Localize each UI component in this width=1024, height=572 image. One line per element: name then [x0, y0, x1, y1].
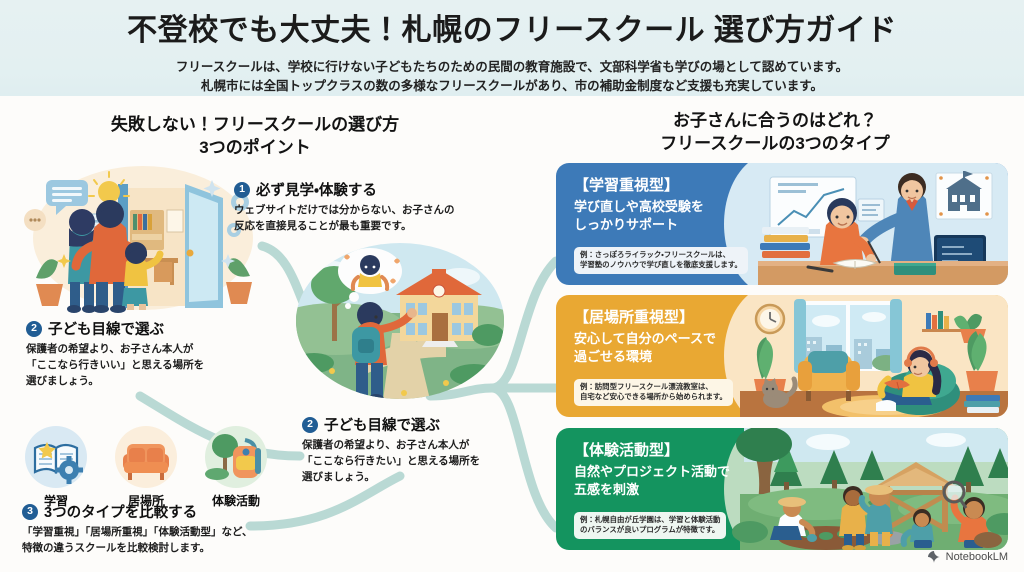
type-icon-cell-place: 居場所	[112, 426, 180, 509]
point-3-number-badge: 3	[22, 504, 38, 520]
type-icon-cell-learning: 学習	[22, 426, 90, 509]
watermark-label: NotebookLM	[946, 551, 1008, 563]
point-2-left-body-line-3: 選びましょう。	[26, 374, 256, 390]
type-card-activity-desc-line-2: 五感を刺激	[574, 481, 824, 499]
type-card-learning-desc-line-1: 学び直しや高校受験を	[574, 198, 824, 216]
type-card-activity-desc: 自然やプロジェクト活動で 五感を刺激	[574, 463, 824, 499]
page-title: 不登校でも大丈夫！札幌のフリースクール 選び方ガイド	[0, 14, 1024, 49]
type-card-place[interactable]: 【居場所重視型】 安心して自分のペースで 過ごせる環境 例：訪問型フリースクール…	[556, 295, 1008, 417]
right-heading-line-2: フリースクールの3つのタイプ	[560, 133, 990, 156]
point-1-title-text: 必ず見学・体験する	[256, 179, 377, 200]
left-heading-line-2: 3つのポイント	[30, 137, 480, 160]
type-card-learning[interactable]: 【学習重視型】 学び直しや高校受験を しっかりサポート 例：さっぽろライラック・…	[556, 163, 1008, 285]
page-subtitle: フリースクールは、学校に行けない子どもたちのための民間の教育施設で、文部科学省も…	[0, 58, 1024, 97]
type-card-learning-note-line-1: 例：さっぽろライラック・フリースクールは、	[580, 250, 742, 261]
point-2-center-title-text: 子ども目線で選ぶ	[324, 414, 440, 435]
subtitle-line-2: 札幌市には全国トップクラスの数の多様なフリースクールがあり、市の補助金制度など支…	[0, 77, 1024, 96]
point-2-left-title: 2 子ども目線で選ぶ	[26, 318, 256, 339]
watermark: NotebookLM	[927, 550, 1008, 564]
point-3-body-line-1: 「学習重視」「居場所重視」「体験活動型」など、	[22, 525, 292, 541]
point-2-center-body-line-3: 選びましょう。	[302, 470, 532, 486]
type-card-activity[interactable]: 【体験活動型】 自然やプロジェクト活動で 五感を刺激 例：札幌自由が丘学園は、学…	[556, 428, 1008, 550]
subtitle-line-1: フリースクールは、学校に行けない子どもたちのための民間の教育施設で、文部科学省も…	[0, 58, 1024, 77]
left-panel-heading: 失敗しない！フリースクールの選び方 3つのポイント	[30, 114, 480, 160]
point-2-center-body-line-2: 「ここなら行きたい」と思える場所を	[302, 454, 532, 470]
point-2-center: 2 子ども目線で選ぶ 保護者の希望より、お子さん本人が 「ここなら行きたい」と思…	[302, 414, 532, 486]
type-card-activity-label: 【体験活動型】	[574, 442, 824, 461]
type-card-place-label: 【居場所重視型】	[574, 309, 824, 328]
point-3-body-line-2: 特徴の違うスクールを比較検討します。	[22, 541, 292, 557]
notebooklm-icon	[927, 550, 941, 564]
type-card-learning-desc: 学び直しや高校受験を しっかりサポート	[574, 198, 824, 234]
point-2-center-number-badge: 2	[302, 417, 318, 433]
point-2-center-body-line-1: 保護者の希望より、お子さん本人が	[302, 438, 532, 454]
tree-and-backpack-icon	[205, 426, 267, 488]
type-card-learning-text: 【学習重視型】 学び直しや高校受験を しっかりサポート	[574, 177, 824, 234]
right-heading-line-1: お子さんに合うのはどれ？	[560, 110, 990, 133]
type-card-learning-label: 【学習重視型】	[574, 177, 824, 196]
point-1-body-line-1: ウェブサイトだけでは分からない、お子さんの	[234, 203, 444, 219]
type-card-learning-note: 例：さっぽろライラック・フリースクールは、 学習塾のノウハウで学び直しを徹底支援…	[574, 247, 748, 274]
open-book-with-gear-icon	[25, 426, 87, 488]
point-2-center-title: 2 子ども目線で選ぶ	[302, 414, 532, 435]
point-2-left-body: 保護者の希望より、お子さん本人が 「ここなら行きいい」と思える場所を 選びましょ…	[26, 342, 256, 390]
type-card-learning-note-line-2: 学習塾のノウハウで学び直しを徹底支援します。	[580, 260, 742, 271]
type-card-activity-note-line-2: のバランスが良いプログラムが特徴です。	[580, 525, 720, 536]
type-card-learning-desc-line-2: しっかりサポート	[574, 216, 824, 234]
family-at-open-door-illustration	[18, 158, 268, 313]
type-card-activity-text: 【体験活動型】 自然やプロジェクト活動で 五感を刺激	[574, 442, 824, 499]
point-2-left-body-line-2: 「ここなら行きいい」と思える場所を	[26, 358, 256, 374]
type-card-place-text: 【居場所重視型】 安心して自分のペースで 過ごせる環境	[574, 309, 824, 366]
point-1-number-badge: 1	[234, 182, 250, 198]
type-card-place-desc: 安心して自分のペースで 過ごせる環境	[574, 330, 824, 366]
type-card-place-note-line-2: 自宅など安心できる場所から始められます。	[580, 392, 727, 403]
type-card-place-note: 例：訪問型フリースクール漂流教室は、 自宅など安心できる場所から始められます。	[574, 379, 733, 406]
point-3-title-text: 3つのタイプを比較する	[44, 501, 197, 522]
type-card-place-desc-line-2: 過ごせる環境	[574, 348, 824, 366]
point-2-left-body-line-1: 保護者の希望より、お子さん本人が	[26, 342, 256, 358]
point-3-title: 3 3つのタイプを比較する	[22, 501, 292, 522]
left-heading-line-1: 失敗しない！フリースクールの選び方	[30, 114, 480, 137]
point-3-body: 「学習重視」「居場所重視」「体験活動型」など、 特徴の違うスクールを比較検討しま…	[22, 525, 292, 557]
point-2-left-title-text: 子ども目線で選ぶ	[48, 318, 164, 339]
point-2-left-number-badge: 2	[26, 321, 42, 337]
sofa-icon	[115, 426, 177, 488]
header-band: 不登校でも大丈夫！札幌のフリースクール 選び方ガイド フリースクールは、学校に行…	[0, 0, 1024, 96]
point-2-center-body: 保護者の希望より、お子さん本人が 「ここなら行きたい」と思える場所を 選びましょ…	[302, 438, 532, 486]
right-panel-heading: お子さんに合うのはどれ？ フリースクールの3つのタイプ	[560, 110, 990, 156]
point-3: 3 3つのタイプを比較する 「学習重視」「居場所重視」「体験活動型」など、 特徴…	[22, 501, 292, 557]
infographic-page: 不登校でも大丈夫！札幌のフリースクール 選び方ガイド フリースクールは、学校に行…	[0, 0, 1024, 572]
point-2-left: 2 子ども目線で選ぶ 保護者の希望より、お子さん本人が 「ここなら行きいい」と思…	[26, 318, 256, 390]
point-1-body-line-2: 反応を直接見ることが最も重要です。	[234, 219, 444, 235]
type-card-activity-note-line-1: 例：札幌自由が丘学園は、学習と体験活動	[580, 515, 720, 526]
type-icon-row: 学習 居場所	[22, 426, 270, 509]
point-1-title: 1 必ず見学・体験する	[234, 179, 444, 200]
type-card-activity-desc-line-1: 自然やプロジェクト活動で	[574, 463, 824, 481]
point-1: 1 必ず見学・体験する ウェブサイトだけでは分からない、お子さんの 反応を直接見…	[234, 179, 444, 235]
child-pointing-at-school-illustration	[296, 243, 504, 408]
point-1-body: ウェブサイトだけでは分からない、お子さんの 反応を直接見ることが最も重要です。	[234, 203, 444, 235]
type-icon-cell-activity: 体験活動	[202, 426, 270, 509]
type-card-place-note-line-1: 例：訪問型フリースクール漂流教室は、	[580, 382, 727, 393]
type-card-place-desc-line-1: 安心して自分のペースで	[574, 330, 824, 348]
type-card-activity-note: 例：札幌自由が丘学園は、学習と体験活動 のバランスが良いプログラムが特徴です。	[574, 512, 726, 539]
